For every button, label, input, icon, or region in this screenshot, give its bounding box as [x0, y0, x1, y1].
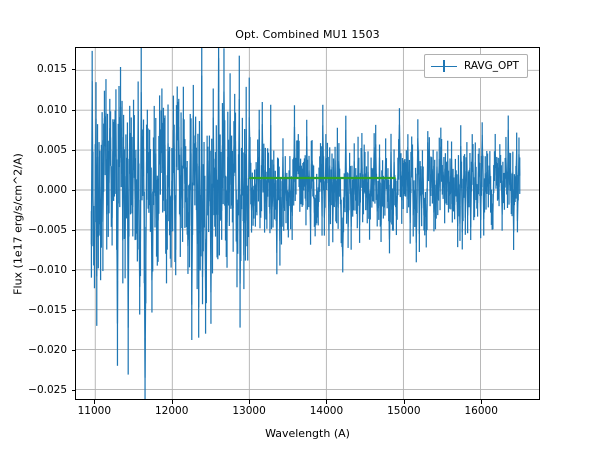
x-tick-mark [481, 400, 482, 404]
figure-canvas: Opt. Combined MU1 1503 0.0150.0100.0050.… [0, 0, 600, 450]
y-tick-mark [72, 69, 76, 70]
y-tick-mark [72, 350, 76, 351]
y-tick-mark [72, 230, 76, 231]
y-tick-label: 0.015 [5, 63, 67, 75]
x-tick-mark [404, 400, 405, 404]
continuum-overlay-layer [76, 48, 539, 399]
x-tick-label: 14000 [291, 405, 361, 417]
x-tick-label: 15000 [369, 405, 439, 417]
y-axis-label: Flux (1e17 erg/s/cm^2/A) [12, 153, 25, 295]
x-tick-label: 16000 [446, 405, 516, 417]
x-tick-mark [94, 400, 95, 404]
legend-item-label: RAVG_OPT [464, 60, 519, 72]
y-tick-mark [72, 190, 76, 191]
legend-errorbar-icon [431, 60, 457, 72]
x-axis-ticks: 110001200013000140001500016000 [75, 400, 540, 430]
x-tick-label: 13000 [214, 405, 284, 417]
y-tick-label: −0.020 [5, 344, 67, 356]
y-tick-label: −0.015 [5, 304, 67, 316]
y-tick-mark [72, 390, 76, 391]
x-tick-label: 11000 [59, 405, 129, 417]
y-tick-label: 0.010 [5, 104, 67, 116]
legend: RAVG_OPT [424, 54, 528, 78]
plot-axes-area [75, 47, 540, 400]
x-tick-mark [326, 400, 327, 404]
y-tick-mark [72, 150, 76, 151]
x-axis-label: Wavelength (A) [75, 427, 540, 440]
y-tick-mark [72, 270, 76, 271]
y-tick-label: −0.025 [5, 384, 67, 396]
x-tick-mark [249, 400, 250, 404]
x-tick-mark [172, 400, 173, 404]
y-tick-mark [72, 310, 76, 311]
x-tick-label: 12000 [137, 405, 207, 417]
y-tick-mark [72, 110, 76, 111]
page-title: Opt. Combined MU1 1503 [75, 28, 540, 41]
